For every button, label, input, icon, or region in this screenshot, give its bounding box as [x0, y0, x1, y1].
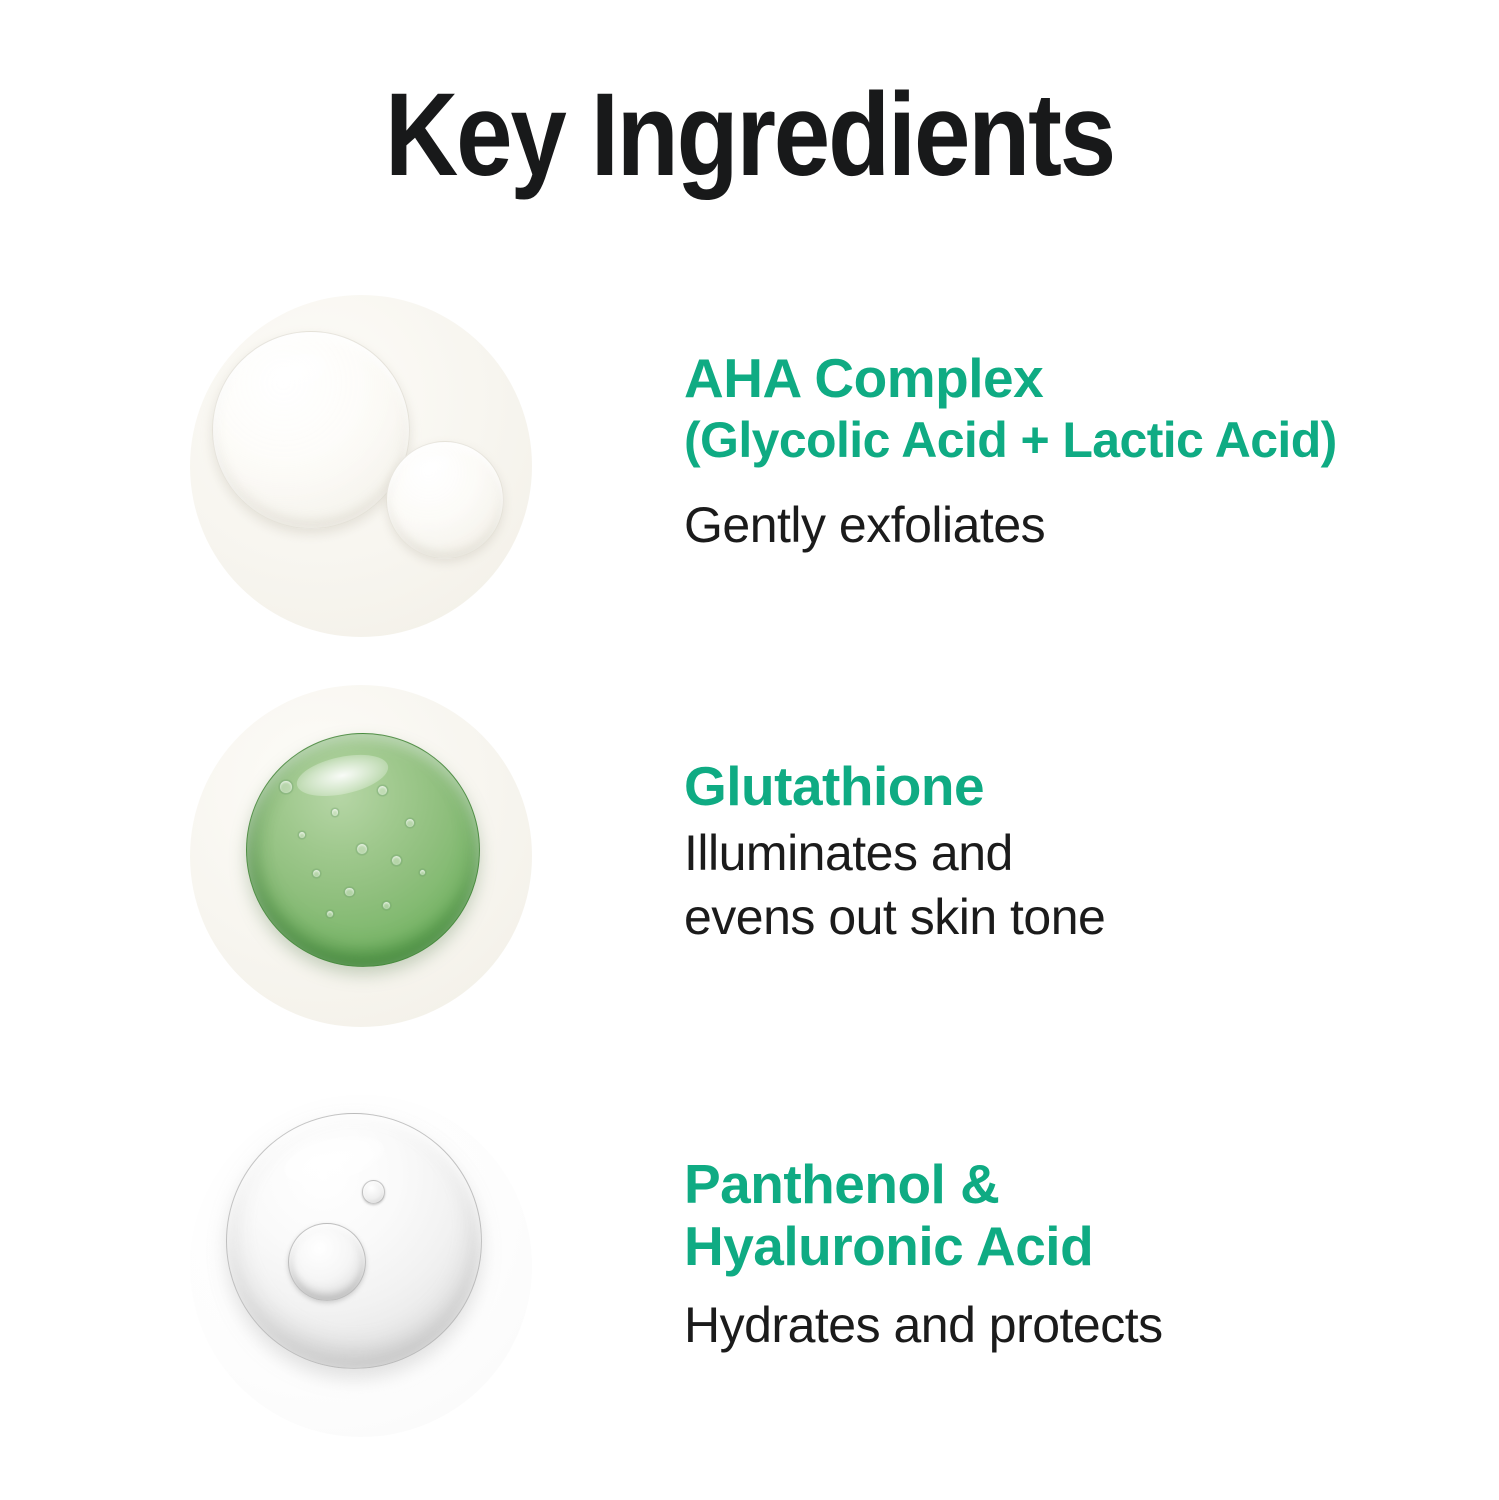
gel-bubble	[356, 843, 368, 855]
spacer	[684, 1277, 1444, 1293]
ingredient-heading: AHA Complex	[684, 347, 1444, 409]
green-gel-droplet	[246, 733, 480, 967]
gel-bubble	[391, 855, 402, 866]
swatch-disc	[190, 685, 532, 1027]
ingredient-description: Gently exfoliates	[684, 493, 1444, 557]
small-clear-droplet	[386, 441, 504, 559]
key-ingredients-infographic: Key Ingredients AHA Complex (Glycolic Ac…	[0, 0, 1499, 1500]
large-clear-droplet	[212, 331, 410, 529]
gel-bubble	[331, 808, 340, 817]
gel-bubble	[279, 780, 293, 794]
swatch-disc	[190, 295, 532, 637]
ingredient-subheading: (Glycolic Acid + Lactic Acid)	[684, 409, 1444, 471]
ingredient-row-panthenol-hyaluronic-acid: Panthenol & Hyaluronic Acid Hydrates and…	[0, 1075, 1499, 1475]
mini-droplet	[362, 1180, 386, 1204]
ingredient-heading-line-2: Hyaluronic Acid	[684, 1215, 1444, 1277]
ingredient-copy-aha-complex: AHA Complex (Glycolic Acid + Lactic Acid…	[684, 347, 1444, 557]
inner-droplet	[288, 1223, 366, 1301]
swatch-disc	[190, 1095, 532, 1437]
page-title: Key Ingredients	[105, 72, 1394, 199]
spacer	[684, 471, 1444, 493]
gel-bubble	[298, 831, 306, 839]
ingredient-copy-panthenol-hyaluronic-acid: Panthenol & Hyaluronic Acid Hydrates and…	[684, 1153, 1444, 1357]
clear-serum-droplet	[226, 1113, 482, 1369]
ingredient-description-line-1: Illuminates and	[684, 821, 1444, 885]
ingredient-row-aha-complex: AHA Complex (Glycolic Acid + Lactic Acid…	[0, 275, 1499, 675]
gel-bubble	[405, 818, 415, 828]
gel-bubble	[312, 869, 321, 878]
gel-bubble	[382, 901, 391, 910]
ingredient-description: Hydrates and protects	[684, 1293, 1444, 1357]
gel-bubble	[377, 785, 388, 796]
clear-gel-droplets-swatch	[190, 295, 532, 637]
gel-bubble	[419, 869, 427, 877]
ingredient-heading-line-1: Panthenol &	[684, 1153, 1444, 1215]
gel-bubble	[344, 887, 354, 897]
ingredient-heading: Glutathione	[684, 755, 1444, 817]
ingredient-copy-glutathione: Glutathione Illuminates and evens out sk…	[684, 755, 1444, 949]
clear-serum-droplet-swatch	[190, 1095, 532, 1437]
green-gel-droplet-swatch	[190, 685, 532, 1027]
ingredient-description-line-2: evens out skin tone	[684, 885, 1444, 949]
gel-bubble	[326, 910, 334, 918]
ingredient-row-glutathione: Glutathione Illuminates and evens out sk…	[0, 665, 1499, 1065]
droplet-highlight	[293, 748, 391, 804]
